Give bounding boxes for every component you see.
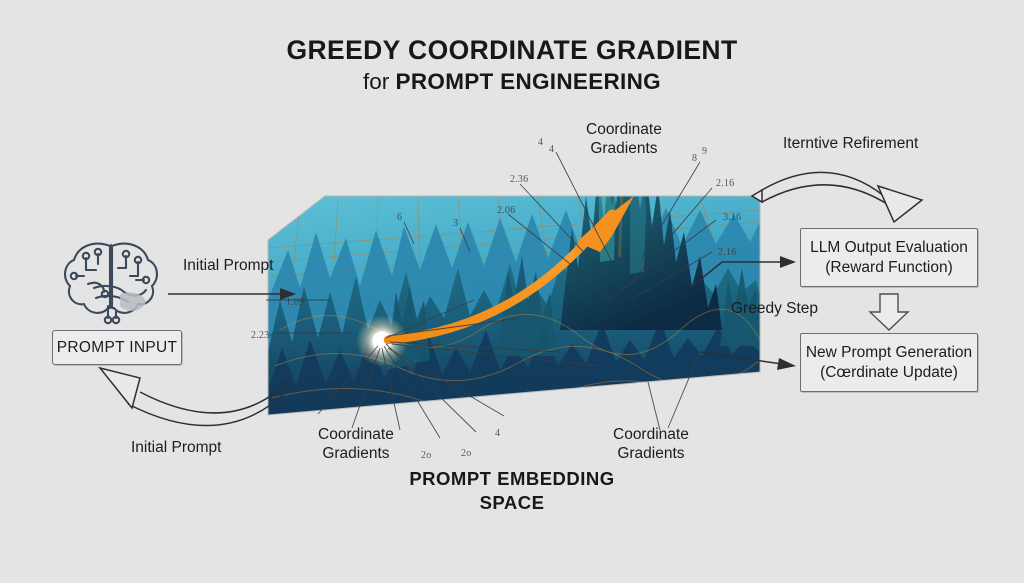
surface-plane	[268, 146, 761, 415]
surface-annotation-15: 4	[495, 428, 500, 439]
llm-eval-text: LLM Output Evaluation (Reward Function)	[810, 238, 968, 278]
diagram-canvas: GREEDY COORDINATE GRADIENT for PROMPT EN…	[0, 0, 1024, 583]
llm-eval-line-1: LLM Output Evaluation	[810, 239, 968, 256]
new-prompt-text: New Prompt Generation (Cœrdinate Update)	[806, 343, 972, 383]
label-initial-prompt-top: Initial Prompt	[183, 256, 273, 275]
surface-annotation-4: 2.06	[497, 205, 515, 216]
surface-annotation-3: 3	[453, 218, 458, 229]
surface-annotation-11: 3.16	[723, 212, 741, 223]
surface-annotation-14: 2o	[461, 448, 471, 459]
new-prompt-generation-box[interactable]: New Prompt Generation (Cœrdinate Update)	[800, 333, 978, 392]
label-greedy-step: Greedy Step	[731, 299, 818, 318]
label-coordinate-gradients-bottom-left: Coordinate Gradients	[318, 425, 394, 464]
new-prompt-line-2: (Cœrdinate Update)	[820, 364, 958, 381]
surface-annotation-6: 4	[538, 137, 543, 148]
surface-annotation-9: 9	[702, 146, 707, 157]
surface-annotation-12: 2.16	[718, 247, 736, 258]
surface-annotation-13: 2o	[421, 450, 431, 461]
surface-annotation-1: 2.23s	[251, 330, 273, 341]
arrow-eval-to-generation	[870, 294, 908, 330]
label-coordinate-gradients-bottom-right: Coordinate Gradients	[613, 425, 689, 464]
prompt-input-label: PROMPT INPUT	[57, 338, 177, 358]
new-prompt-line-1: New Prompt Generation	[806, 344, 972, 361]
surface-annotation-10: 2.16	[716, 178, 734, 189]
label-coordinate-gradients-top: Coordinate Gradients	[586, 120, 662, 159]
prompt-embedding-space-caption: PROMPT EMBEDDING SPACE	[0, 467, 1024, 515]
surface-annotation-5: 2.36	[510, 174, 528, 185]
arrow-feedback-loop-left	[100, 368, 292, 426]
arrow-iterative-refinement	[752, 172, 922, 222]
brain-circuit-icon	[58, 236, 164, 322]
surface-annotation-0: 1.09	[286, 297, 304, 308]
surface-annotation-8: 8	[692, 153, 697, 164]
llm-output-evaluation-box[interactable]: LLM Output Evaluation (Reward Function)	[800, 228, 978, 287]
surface-annotation-7: 4	[549, 144, 554, 155]
label-iterative-refinement: Iterntive Refirement	[783, 134, 918, 153]
prompt-input-box[interactable]: PROMPT INPUT	[52, 330, 182, 365]
llm-eval-line-2: (Reward Function)	[825, 259, 953, 276]
label-initial-prompt-bottom: Initial Prompt	[131, 438, 221, 457]
surface-annotation-2: 6	[397, 212, 402, 223]
